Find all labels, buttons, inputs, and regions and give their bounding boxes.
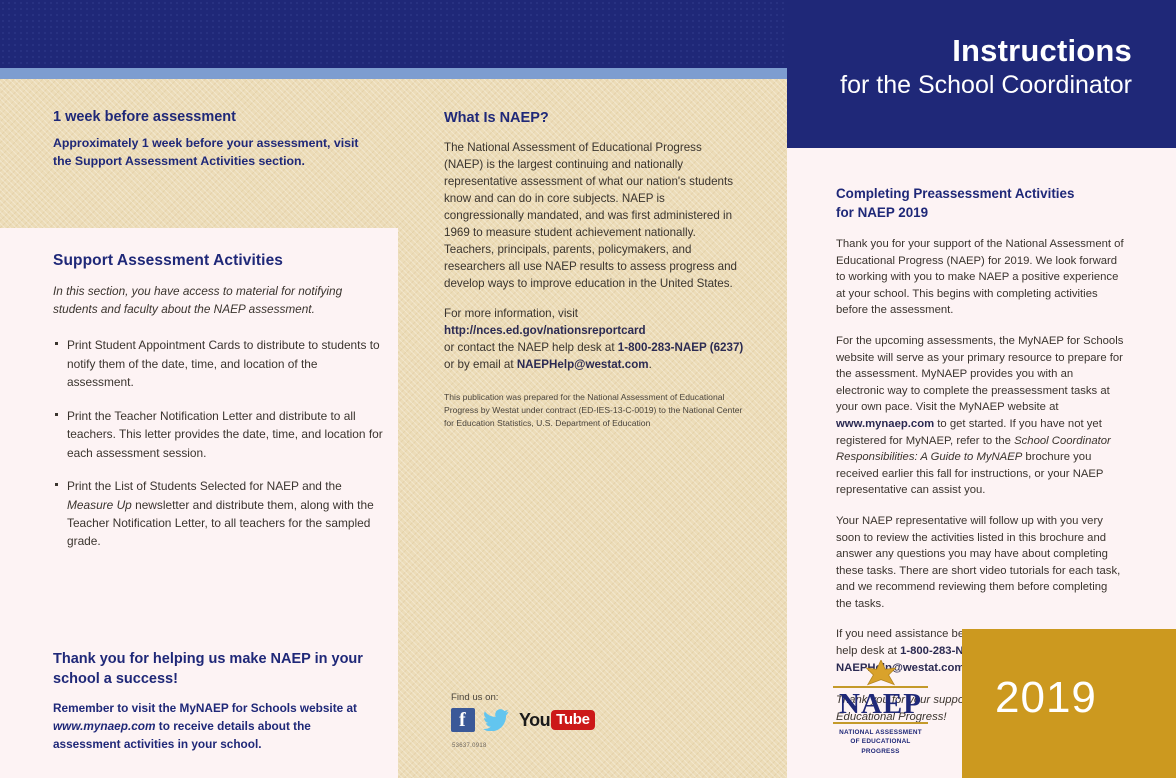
list-item: Print the Teacher Notification Letter an… (53, 407, 383, 462)
logo-wordmark: NAEP (833, 690, 928, 719)
what-is-naep-contact: For more information, visit http://nces.… (444, 305, 744, 373)
help-desk-email[interactable]: NAEPHelp@westat.com (517, 358, 649, 371)
preassessment-heading: Completing Preassessment Activitiesfor N… (836, 185, 1124, 222)
logo-tagline-line1: NATIONAL ASSESSMENT (833, 728, 928, 737)
thank-you-heading: Thank you for helping us make NAEP in yo… (53, 650, 373, 689)
mynaep-link[interactable]: www.mynaep.com (53, 719, 156, 733)
social-media-block: Find us on: You Tube (451, 692, 711, 732)
one-week-heading: 1 week before assessment (53, 109, 373, 125)
twitter-icon[interactable] (483, 709, 509, 731)
legal-disclaimer: This publication was prepared for the Na… (444, 391, 744, 430)
page-title: Instructions (840, 34, 1132, 69)
contact-mid: or contact the NAEP help desk at (444, 341, 618, 354)
youtube-tube-text: Tube (551, 710, 595, 730)
right-panel-header: Instructions for the School Coordinator (787, 0, 1176, 148)
list-item: Print the List of Students Selected for … (53, 477, 383, 551)
left-block-thank-you: Thank you for helping us make NAEP in yo… (53, 650, 373, 753)
thank-you-body-lead: Remember to visit the MyNAEP for Schools… (53, 701, 357, 715)
middle-block-what-is-naep: What Is NAEP? The National Assessment of… (444, 110, 744, 430)
mynaep-website-link[interactable]: www.mynaep.com (836, 418, 934, 430)
year-label: 2019 (995, 673, 1097, 723)
support-activities-heading: Support Assessment Activities (53, 252, 383, 270)
youtube-you-text: You (519, 710, 550, 731)
support-activities-intro: In this section, you have access to mate… (53, 283, 383, 318)
list-item: Print Student Appointment Cards to distr… (53, 336, 383, 391)
what-is-naep-heading: What Is NAEP? (444, 110, 744, 126)
contact-period: . (649, 358, 652, 371)
top-light-blue-band (0, 68, 787, 79)
logo-rule-bottom (833, 722, 928, 724)
preassessment-paragraph-1: Thank you for your support of the Nation… (836, 236, 1124, 319)
find-us-on-label: Find us on: (451, 692, 711, 703)
youtube-icon[interactable]: You Tube (519, 710, 595, 731)
brochure-page: 1 week before assessment Approximately 1… (0, 0, 1176, 778)
left-block-one-week: 1 week before assessment Approximately 1… (53, 109, 373, 171)
contact-lead: For more information, visit (444, 307, 578, 320)
thank-you-body: Remember to visit the MyNAEP for Schools… (53, 700, 373, 753)
what-is-naep-paragraph: The National Assessment of Educational P… (444, 139, 744, 292)
page-subtitle: for the School Coordinator (840, 70, 1132, 100)
star-icon (833, 660, 928, 686)
logo-tagline-line2: OF EDUCATIONAL (833, 737, 928, 746)
left-block-support-activities: Support Assessment Activities In this se… (53, 252, 383, 566)
facebook-icon[interactable] (451, 708, 475, 732)
logo-tagline: NATIONAL ASSESSMENT OF EDUCATIONAL PROGR… (833, 728, 928, 756)
nces-website-link[interactable]: http://nces.ed.gov/nationsreportcard (444, 324, 646, 337)
naep-logo: NAEP NATIONAL ASSESSMENT OF EDUCATIONAL … (833, 660, 928, 756)
help-desk-phone[interactable]: 1-800-283-NAEP (6237) (618, 341, 743, 354)
support-activities-bullet-list: Print Student Appointment Cards to distr… (53, 336, 383, 551)
preassessment-paragraph-2: For the upcoming assessments, the MyNAEP… (836, 333, 1124, 499)
one-week-body: Approximately 1 week before your assessm… (53, 135, 373, 171)
p2-part1: For the upcoming assessments, the MyNAEP… (836, 335, 1123, 413)
logo-tagline-line3: PROGRESS (833, 747, 928, 756)
preassessment-paragraph-3: Your NAEP representative will follow up … (836, 513, 1124, 613)
top-navy-band (0, 0, 787, 68)
contact-mid2: or by email at (444, 358, 517, 371)
publication-code: 53637.0918 (452, 743, 487, 749)
header-text-group: Instructions for the School Coordinator (840, 34, 1132, 100)
year-block: 2019 (962, 629, 1176, 778)
social-icon-row: You Tube (451, 708, 711, 732)
measure-up-title: Measure Up (67, 498, 132, 512)
